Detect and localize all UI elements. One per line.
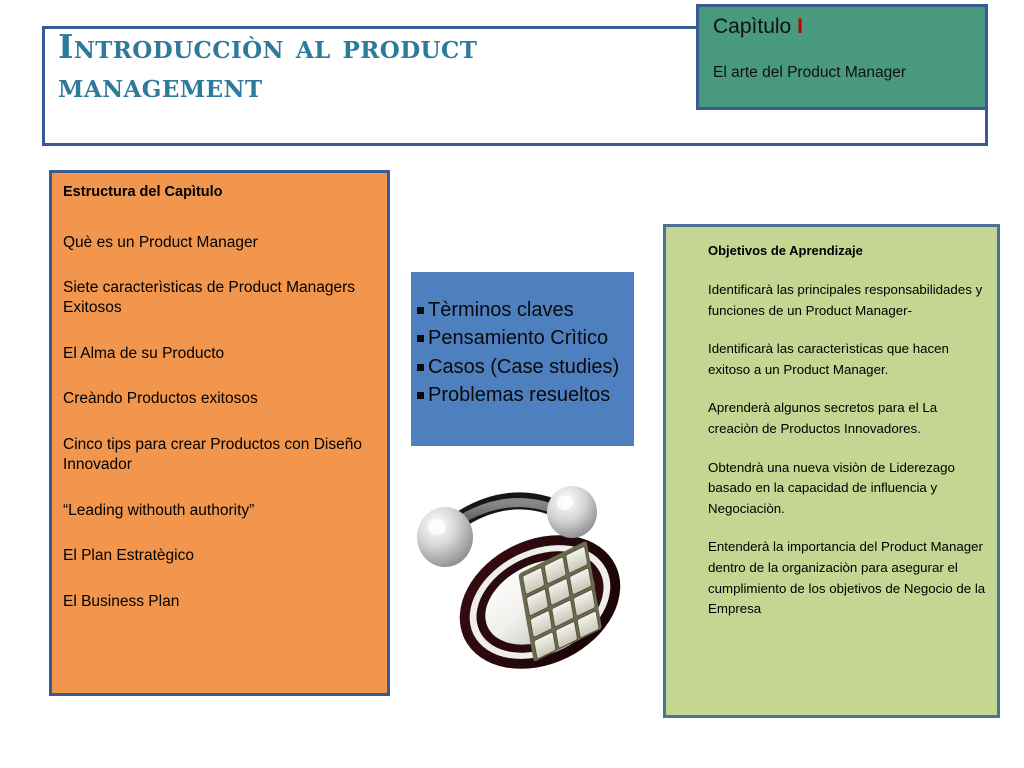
structure-item: Siete caracterìsticas de Product Manager… — [63, 278, 375, 319]
chapter-box: Capìtulo I El arte del Product Manager — [696, 4, 988, 110]
square-bullet-icon — [417, 335, 424, 342]
objectives-box: Objetivos de Aprendizaje Identificarà la… — [663, 224, 1000, 718]
key-term-label: Casos (Case studies) — [428, 356, 619, 378]
telephone-clipart-icon — [404, 474, 654, 688]
key-term-label: Tèrminos claves — [428, 299, 574, 321]
structure-item: Cinco tips para crear Productos con Dise… — [63, 435, 375, 476]
chapter-number: I — [797, 15, 803, 38]
objective-item: Aprenderà algunos secretos para el La cr… — [708, 398, 987, 439]
key-terms-box: Tèrminos claves Pensamiento Crìtico Caso… — [411, 272, 634, 446]
objectives-heading: Objetivos de Aprendizaje — [708, 243, 987, 260]
structure-box: Estructura del Capìtulo Què es un Produc… — [49, 170, 390, 696]
key-term-item: Casos (Case studies) — [417, 353, 628, 381]
structure-item: Creàndo Productos exitosos — [63, 389, 375, 409]
structure-item: El Business Plan — [63, 592, 375, 612]
square-bullet-icon — [417, 307, 424, 314]
square-bullet-icon — [417, 392, 424, 399]
chapter-subtitle: El arte del Product Manager — [713, 64, 985, 82]
key-term-item: Pensamiento Crìtico — [417, 324, 628, 352]
objective-item: Entenderà la importancia del Product Man… — [708, 537, 987, 619]
chapter-label: Capìtulo I — [713, 15, 985, 38]
key-term-label: Problemas resueltos — [428, 384, 610, 406]
square-bullet-icon — [417, 364, 424, 371]
chapter-label-text: Capìtulo — [713, 15, 791, 38]
key-term-item: Tèrminos claves — [417, 296, 628, 324]
structure-item: El Plan Estratègico — [63, 546, 375, 566]
objective-item: Identificarà las principales responsabil… — [708, 280, 987, 321]
structure-item: “Leading withouth authority” — [63, 501, 375, 521]
structure-item: El Alma de su Producto — [63, 344, 375, 364]
objective-item: Obtendrà una nueva visiòn de Liderezago … — [708, 458, 987, 520]
page-title: Introducciòn al Product Management — [58, 28, 678, 106]
key-term-label: Pensamiento Crìtico — [428, 327, 608, 349]
objective-item: Identificarà las caracterìsticas que hac… — [708, 339, 987, 380]
structure-item: Què es un Product Manager — [63, 233, 375, 253]
structure-heading: Estructura del Capìtulo — [63, 183, 375, 203]
key-term-item: Problemas resueltos — [417, 381, 628, 409]
